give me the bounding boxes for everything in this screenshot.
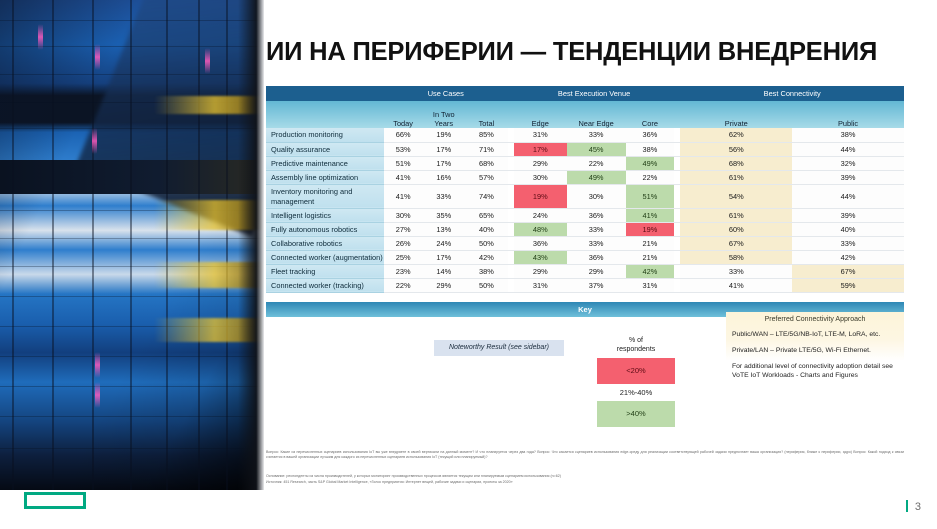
- cell-core: 22%: [626, 170, 675, 184]
- cell-total: 57%: [465, 170, 508, 184]
- col-header-private: Private: [680, 101, 792, 128]
- cell-total: 38%: [465, 264, 508, 278]
- table-row: Quality assurance53%17%71%17%45%38%56%44…: [266, 142, 904, 156]
- sidebar-paragraph-private: Private/LAN – Private LTE/5G, Wi-Fi Ethe…: [732, 346, 898, 355]
- row-label: Inventory monitoring and management: [266, 184, 384, 208]
- col-header-total: Total: [465, 101, 508, 128]
- table-row: Connected worker (tracking)22%29%50%31%3…: [266, 278, 904, 292]
- row-label: Intelligent logistics: [266, 208, 384, 222]
- table-row: Fully autonomous robotics27%13%40%48%33%…: [266, 222, 904, 236]
- cell-in-two-years: 29%: [422, 278, 465, 292]
- sidebar-paragraph-public: Public/WAN – LTE/5G/NB-IoT, LTE-M, LoRA,…: [732, 330, 898, 339]
- sidebar-title: Preferred Connectivity Approach: [732, 316, 898, 323]
- cell-today: 22%: [384, 278, 423, 292]
- legend-swatch-low: <20%: [597, 358, 675, 384]
- adoption-table: Use Cases Best Execution Venue Best Conn…: [266, 86, 904, 293]
- connectivity-sidebar: Preferred Connectivity Approach Public/W…: [726, 312, 904, 434]
- col-header-usecase: [266, 101, 384, 128]
- footnote-question: Вопрос: Какие из перечисленных сценариев…: [266, 450, 904, 460]
- footnote-source: Основание: респонденты из числа производ…: [266, 474, 904, 485]
- cell-private: 33%: [680, 264, 792, 278]
- table-row: Predictive maintenance51%17%68%29%22%49%…: [266, 156, 904, 170]
- cell-core: 36%: [626, 128, 675, 142]
- table-row: Fleet tracking23%14%38%29%29%42%33%67%: [266, 264, 904, 278]
- cell-private: 62%: [680, 128, 792, 142]
- cell-today: 25%: [384, 250, 423, 264]
- cell-today: 41%: [384, 184, 423, 208]
- cell-today: 51%: [384, 156, 423, 170]
- table-row: Intelligent logistics30%35%65%24%36%41%6…: [266, 208, 904, 222]
- cell-near-edge: 36%: [567, 208, 626, 222]
- cell-today: 66%: [384, 128, 423, 142]
- cell-private: 41%: [680, 278, 792, 292]
- cell-core: 51%: [626, 184, 675, 208]
- table-row: Production monitoring66%19%85%31%33%36%6…: [266, 128, 904, 142]
- table-row: Collaborative robotics26%24%50%36%33%21%…: [266, 236, 904, 250]
- cell-today: 53%: [384, 142, 423, 156]
- cell-edge: 29%: [514, 156, 567, 170]
- cell-edge: 29%: [514, 264, 567, 278]
- table-row: Connected worker (augmentation)25%17%42%…: [266, 250, 904, 264]
- page-number: 3: [906, 500, 921, 513]
- photo-right-edge-shadow: [238, 0, 264, 490]
- cell-in-two-years: 13%: [422, 222, 465, 236]
- cell-public: 42%: [792, 250, 904, 264]
- col-header-in-two-years: In TwoYears: [422, 101, 465, 128]
- cell-near-edge: 33%: [567, 222, 626, 236]
- cell-public: 44%: [792, 184, 904, 208]
- photo-dark-band: [0, 160, 264, 194]
- cell-near-edge: 33%: [567, 128, 626, 142]
- col-header-today: Today: [384, 101, 423, 128]
- cell-near-edge: 45%: [567, 142, 626, 156]
- cell-core: 41%: [626, 208, 675, 222]
- cell-edge: 48%: [514, 222, 567, 236]
- cell-total: 71%: [465, 142, 508, 156]
- cell-in-two-years: 17%: [422, 250, 465, 264]
- cell-in-two-years: 16%: [422, 170, 465, 184]
- cell-total: 74%: [465, 184, 508, 208]
- group-header-use-cases: Use Cases: [384, 86, 508, 101]
- legend-title-line2: respondents: [617, 346, 656, 353]
- cell-total: 68%: [465, 156, 508, 170]
- row-label: Fully autonomous robotics: [266, 222, 384, 236]
- cell-total: 65%: [465, 208, 508, 222]
- table-row: Assembly line optimization41%16%57%30%49…: [266, 170, 904, 184]
- cell-today: 27%: [384, 222, 423, 236]
- row-label: Connected worker (tracking): [266, 278, 384, 292]
- sidebar-paragraph-reference: For additional level of connectivity ado…: [732, 362, 898, 380]
- cell-core: 21%: [626, 236, 675, 250]
- cell-today: 41%: [384, 170, 423, 184]
- row-label: Quality assurance: [266, 142, 384, 156]
- legend-title: % of respondents: [597, 336, 675, 354]
- cell-public: 67%: [792, 264, 904, 278]
- row-label: Fleet tracking: [266, 264, 384, 278]
- cell-in-two-years: 17%: [422, 156, 465, 170]
- cell-in-two-years: 17%: [422, 142, 465, 156]
- cell-near-edge: 36%: [567, 250, 626, 264]
- cell-in-two-years: 33%: [422, 184, 465, 208]
- row-label: Collaborative robotics: [266, 236, 384, 250]
- cell-near-edge: 33%: [567, 236, 626, 250]
- cell-private: 54%: [680, 184, 792, 208]
- row-label: Assembly line optimization: [266, 170, 384, 184]
- cell-public: 39%: [792, 208, 904, 222]
- cell-total: 50%: [465, 278, 508, 292]
- cell-public: 39%: [792, 170, 904, 184]
- legend: % of respondents <20% 21%-40% >40%: [597, 336, 675, 427]
- cell-edge: 31%: [514, 278, 567, 292]
- cell-total: 40%: [465, 222, 508, 236]
- cell-core: 42%: [626, 264, 675, 278]
- cell-core: 31%: [626, 278, 675, 292]
- cell-total: 85%: [465, 128, 508, 142]
- cell-edge: 24%: [514, 208, 567, 222]
- col-header-public: Public: [792, 101, 904, 128]
- col-header-core: Core: [626, 101, 675, 128]
- noteworthy-result-note: Noteworthy Result (see sidebar): [434, 340, 564, 356]
- table-row: Inventory monitoring and management41%33…: [266, 184, 904, 208]
- hpe-logo: [24, 492, 86, 509]
- cell-public: 32%: [792, 156, 904, 170]
- legend-swatch-high: >40%: [597, 401, 675, 427]
- group-header-best-execution-venue: Best Execution Venue: [514, 86, 674, 101]
- cell-total: 50%: [465, 236, 508, 250]
- cell-today: 26%: [384, 236, 423, 250]
- cell-in-two-years: 14%: [422, 264, 465, 278]
- cell-private: 61%: [680, 208, 792, 222]
- cell-total: 42%: [465, 250, 508, 264]
- row-label: Production monitoring: [266, 128, 384, 142]
- legend-label-mid: 21%-40%: [597, 388, 675, 397]
- slide: ИИ НА ПЕРИФЕРИИ — ТЕНДЕНЦИИ ВНЕДРЕНИЯ Us…: [0, 0, 937, 529]
- page-number-value: 3: [915, 501, 921, 513]
- cell-near-edge: 29%: [567, 264, 626, 278]
- cell-private: 61%: [680, 170, 792, 184]
- row-label: Predictive maintenance: [266, 156, 384, 170]
- table-column-header-row: Today In TwoYears Total Edge Near Edge C…: [266, 101, 904, 128]
- cell-core: 19%: [626, 222, 675, 236]
- cell-core: 38%: [626, 142, 675, 156]
- cell-public: 44%: [792, 142, 904, 156]
- cell-edge: 19%: [514, 184, 567, 208]
- cell-in-two-years: 35%: [422, 208, 465, 222]
- cell-private: 68%: [680, 156, 792, 170]
- cell-core: 21%: [626, 250, 675, 264]
- cell-public: 38%: [792, 128, 904, 142]
- legend-title-line1: % of: [629, 337, 643, 344]
- cell-in-two-years: 19%: [422, 128, 465, 142]
- table-group-header-row: Use Cases Best Execution Venue Best Conn…: [266, 86, 904, 101]
- cell-edge: 17%: [514, 142, 567, 156]
- cell-today: 30%: [384, 208, 423, 222]
- cell-core: 49%: [626, 156, 675, 170]
- col-header-edge: Edge: [514, 101, 567, 128]
- cell-private: 67%: [680, 236, 792, 250]
- cell-edge: 36%: [514, 236, 567, 250]
- row-label: Connected worker (augmentation): [266, 250, 384, 264]
- cell-edge: 31%: [514, 128, 567, 142]
- footnote-source-line: Источник: 451 Research, часть S&P Global…: [266, 480, 904, 486]
- building-photo: [0, 0, 264, 490]
- cell-near-edge: 49%: [567, 170, 626, 184]
- cell-public: 59%: [792, 278, 904, 292]
- cell-near-edge: 30%: [567, 184, 626, 208]
- cell-in-two-years: 24%: [422, 236, 465, 250]
- cell-private: 60%: [680, 222, 792, 236]
- group-header-blank: [266, 86, 384, 101]
- cell-today: 23%: [384, 264, 423, 278]
- col-header-near-edge: Near Edge: [567, 101, 626, 128]
- cell-near-edge: 37%: [567, 278, 626, 292]
- cell-public: 33%: [792, 236, 904, 250]
- cell-edge: 30%: [514, 170, 567, 184]
- page-title: ИИ НА ПЕРИФЕРИИ — ТЕНДЕНЦИИ ВНЕДРЕНИЯ: [266, 38, 916, 67]
- cell-near-edge: 22%: [567, 156, 626, 170]
- cell-private: 56%: [680, 142, 792, 156]
- group-header-best-connectivity: Best Connectivity: [680, 86, 904, 101]
- cell-public: 40%: [792, 222, 904, 236]
- cell-edge: 43%: [514, 250, 567, 264]
- page-number-bar: [906, 500, 908, 512]
- cell-private: 58%: [680, 250, 792, 264]
